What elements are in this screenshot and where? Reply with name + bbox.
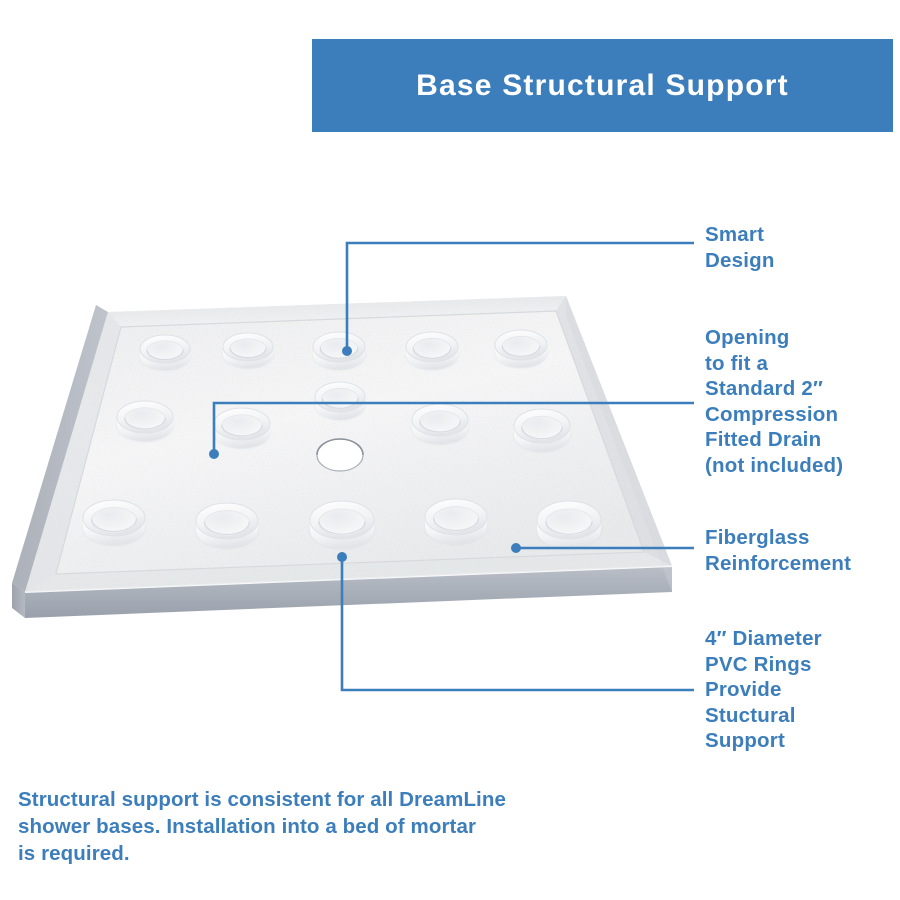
pvc-ring — [315, 382, 366, 421]
page-title: Base Structural Support — [416, 69, 789, 103]
callout-label-pvc-rings: 4″ Diameter PVC Rings Provide Stuctural … — [705, 626, 822, 754]
pvc-ring — [405, 332, 458, 371]
pvc-ring — [82, 500, 145, 546]
footer-caption: Structural support is consistent for all… — [18, 786, 618, 867]
pvc-ring — [424, 499, 487, 545]
pvc-ring — [312, 332, 365, 371]
pvc-ring — [411, 404, 468, 445]
pvc-ring — [213, 408, 270, 449]
leader-dot-smart-design — [342, 346, 352, 356]
pvc-ring — [116, 401, 173, 442]
pvc-ring — [140, 335, 191, 371]
leader-dot-opening-drain — [209, 449, 219, 459]
pvc-ring — [223, 333, 274, 369]
callout-label-fiberglass-reinforcement: Fiberglass Reinforcement — [705, 525, 851, 576]
header-banner: Base Structural Support — [312, 39, 893, 132]
pvc-ring — [536, 501, 601, 550]
pvc-ring — [513, 409, 570, 453]
leader-dot-pvc-rings — [337, 552, 347, 562]
diagram-canvas: Base Structural Support Smart Design Ope… — [0, 0, 900, 900]
pvc-ring — [494, 330, 547, 369]
leader-dot-fiberglass-reinforcement — [511, 543, 521, 553]
drain-hole-group — [317, 439, 363, 471]
callout-label-opening-drain: Opening to fit a Standard 2″ Compression… — [705, 325, 843, 478]
pvc-ring — [309, 501, 374, 550]
pvc-ring — [195, 503, 258, 549]
callout-label-smart-design: Smart Design — [705, 222, 775, 273]
